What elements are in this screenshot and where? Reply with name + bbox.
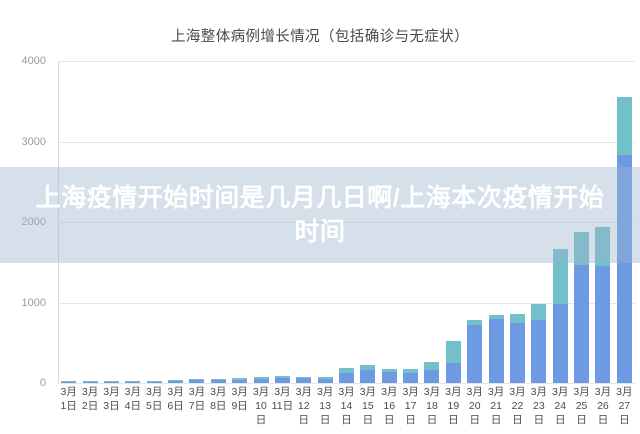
x-tick-label: 3月21日 xyxy=(485,385,507,427)
x-tick-label: 3月25日 xyxy=(571,385,593,427)
x-tick-label: 3月1日 xyxy=(58,385,80,413)
x-tick-label: 3月5日 xyxy=(143,385,165,413)
x-tick-label: 3月7日 xyxy=(186,385,208,413)
x-tick-label: 3月27日 xyxy=(613,385,635,427)
watermark-text: 上海疫情开始时间是几月几日啊/上海本次疫情开始时间 xyxy=(0,167,640,263)
x-tick-label: 3月24日 xyxy=(549,385,571,427)
x-tick-label: 3月22日 xyxy=(506,385,528,427)
x-tick-label: 3月13日 xyxy=(314,385,336,427)
x-tick-label: 3月6日 xyxy=(165,385,187,413)
covid-growth-chart: 上海整体病例增长情况（包括确诊与无症状） 01000200030004000 3… xyxy=(0,0,640,434)
x-tick-label: 3月17日 xyxy=(400,385,422,427)
x-tick-label: 3月15日 xyxy=(357,385,379,427)
x-tick-label: 3月18日 xyxy=(421,385,443,427)
x-tick-label: 3月19日 xyxy=(442,385,464,427)
x-tick-label: 3月8日 xyxy=(207,385,229,413)
x-tick-label: 3月3日 xyxy=(100,385,122,413)
x-tick-label: 3月10日 xyxy=(250,385,272,427)
x-tick-label: 3月4日 xyxy=(122,385,144,413)
x-tick-label: 3月16日 xyxy=(378,385,400,427)
y-tick-label: 4000 xyxy=(0,55,46,67)
x-tick-label: 3月2日 xyxy=(79,385,101,413)
y-tick-label: 1000 xyxy=(0,297,46,309)
x-tick-label: 3月26日 xyxy=(592,385,614,427)
x-tick-label: 3月9日 xyxy=(229,385,251,413)
x-tick-label: 3月12日 xyxy=(293,385,315,427)
x-tick-label: 3月23日 xyxy=(528,385,550,427)
x-axis-ticks: 3月1日3月2日3月3日3月4日3月5日3月6日3月7日3月8日3月9日3月10… xyxy=(58,385,635,434)
x-tick-label: 3月20日 xyxy=(464,385,486,427)
x-tick-label: 3月14日 xyxy=(336,385,358,427)
x-tick-label: 3月11日 xyxy=(271,385,293,413)
y-tick-label: 0 xyxy=(0,377,46,389)
y-tick-label: 3000 xyxy=(0,136,46,148)
